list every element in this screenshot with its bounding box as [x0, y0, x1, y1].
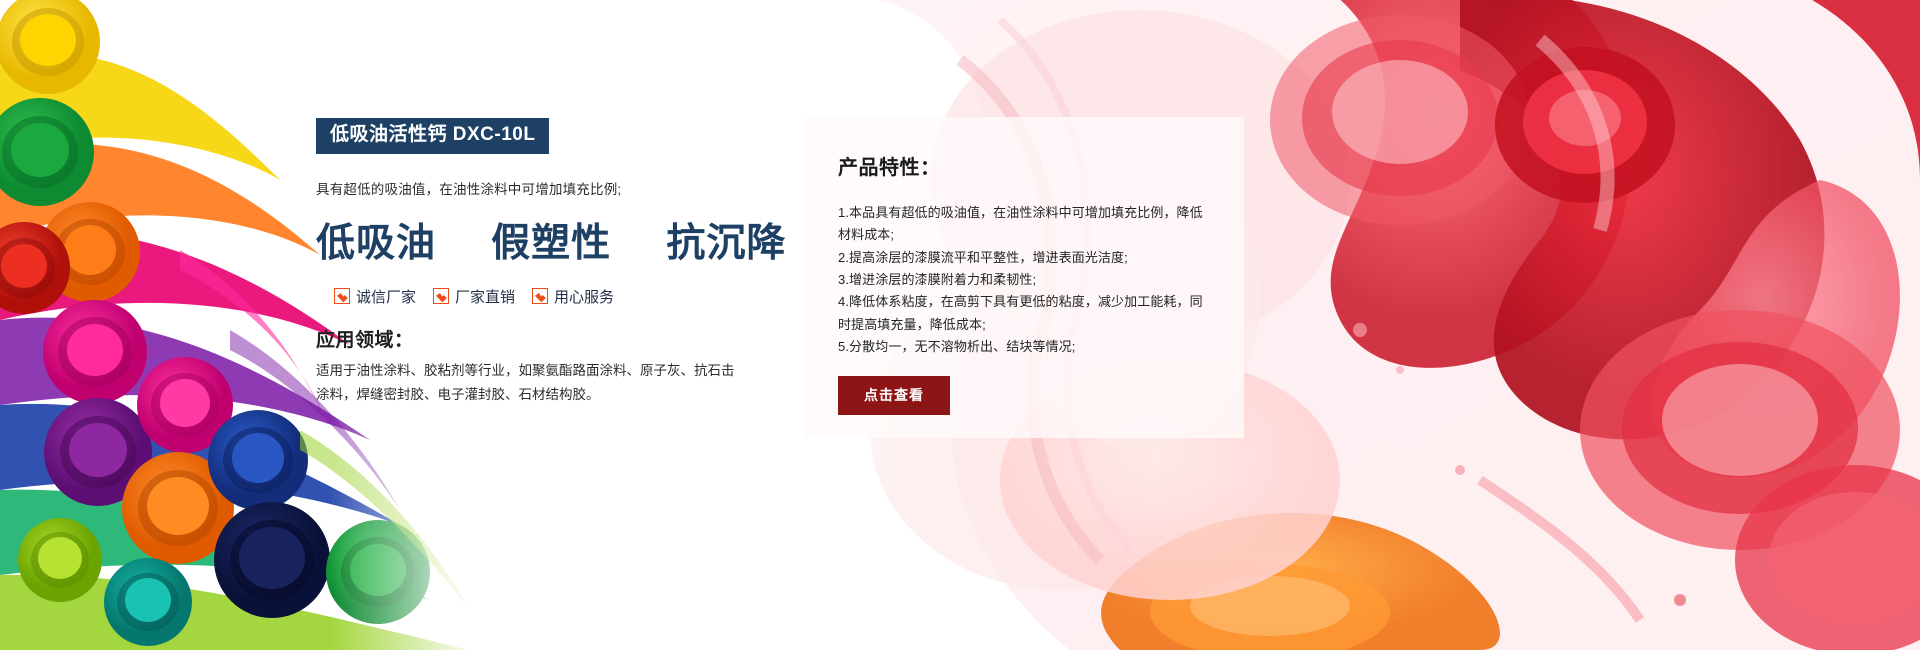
trust-tag-label-1: 诚信厂家	[356, 286, 416, 307]
application-section-title: 应用领域：	[316, 325, 746, 352]
trust-tag-list: 诚信厂家 厂家直销 用心服务	[316, 286, 746, 307]
feature-item: 3.增进涂层的漆膜附着力和柔韧性;	[838, 269, 1214, 291]
headline-word-3: 抗沉降	[666, 212, 786, 268]
product-features-panel: 产品特性： 1.本品具有超低的吸油值，在油性涂料中可增加填充比例，降低材料成本;…	[804, 117, 1244, 438]
check-box-icon	[334, 288, 350, 304]
trust-tag-3: 用心服务	[532, 286, 614, 307]
headline-word-2: 假塑性	[491, 212, 611, 268]
trust-tag-label-3: 用心服务	[554, 286, 614, 307]
trust-tag-label-2: 厂家直销	[455, 286, 515, 307]
feature-item: 1.本品具有超低的吸油值，在油性涂料中可增加填充比例，降低材料成本;	[838, 202, 1214, 247]
application-section-body: 适用于油性涂料、胶粘剂等行业，如聚氨酯路面涂料、原子灰、抗石击涂料，焊缝密封胶、…	[316, 359, 736, 406]
check-box-icon	[433, 288, 449, 304]
product-banner: 低吸油活性钙 DXC-10L 具有超低的吸油值，在油性涂料中可增加填充比例; 低…	[0, 0, 1920, 650]
trust-tag-2: 厂家直销	[433, 286, 515, 307]
headline-word-1: 低吸油	[316, 212, 436, 268]
left-content-block: 低吸油活性钙 DXC-10L 具有超低的吸油值，在油性涂料中可增加填充比例; 低…	[316, 118, 746, 406]
product-subline: 具有超低的吸油值，在油性涂料中可增加填充比例;	[316, 178, 746, 198]
view-details-button[interactable]: 点击查看	[838, 376, 950, 415]
headline-keywords: 低吸油 假塑性 抗沉降	[316, 212, 746, 268]
feature-item: 4.降低体系粘度，在高剪下具有更低的粘度，减少加工能耗，同时提高填充量，降低成本…	[838, 291, 1214, 336]
features-list: 1.本品具有超低的吸油值，在油性涂料中可增加填充比例，降低材料成本; 2.提高涂…	[838, 202, 1214, 359]
features-panel-title: 产品特性：	[838, 151, 1214, 180]
feature-item: 5.分散均一，无不溶物析出、结块等情况;	[838, 336, 1214, 358]
product-title-badge: 低吸油活性钙 DXC-10L	[316, 118, 549, 154]
trust-tag-1: 诚信厂家	[334, 286, 416, 307]
check-box-icon	[532, 288, 548, 304]
feature-item: 2.提高涂层的漆膜流平和平整性，增进表面光洁度;	[838, 247, 1214, 269]
